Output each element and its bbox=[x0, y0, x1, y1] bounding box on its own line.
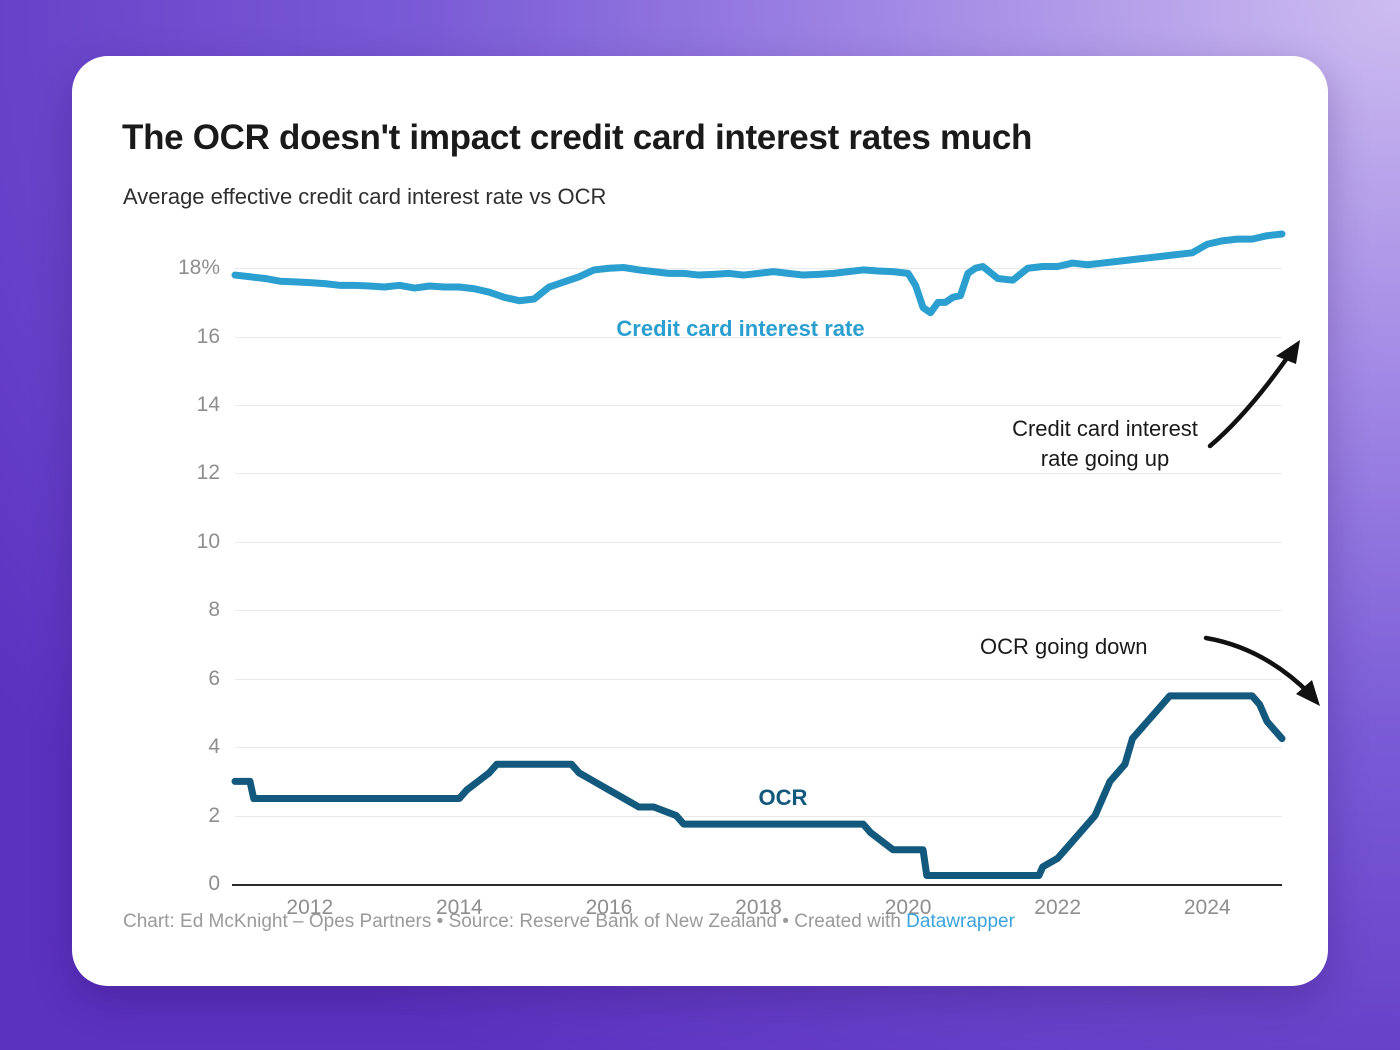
chart-title: The OCR doesn't impact credit card inter… bbox=[122, 118, 1032, 158]
y-axis-tick-label: 12 bbox=[122, 461, 220, 485]
y-axis-tick-label: 0 bbox=[122, 872, 220, 896]
x-axis-tick-label: 2022 bbox=[1034, 896, 1081, 920]
y-axis-tick-label: 14 bbox=[122, 393, 220, 417]
up-arrow-icon bbox=[1202, 334, 1312, 454]
annotation-credit-card-going-up: Credit card interest rate going up bbox=[980, 414, 1230, 473]
credit-card-line bbox=[235, 234, 1282, 313]
y-axis-tick-label: 6 bbox=[122, 667, 220, 691]
footer-credit-text: Chart: Ed McKnight – Opes Partners • Sou… bbox=[123, 911, 906, 932]
chart-footer: Chart: Ed McKnight – Opes Partners • Sou… bbox=[123, 911, 1015, 933]
x-axis-tick-label: 2024 bbox=[1184, 896, 1231, 920]
y-axis-tick-label: 8 bbox=[122, 598, 220, 622]
y-axis-tick-label: 4 bbox=[122, 735, 220, 759]
axis-line bbox=[232, 884, 1282, 886]
y-axis-tick-label: 18% bbox=[122, 256, 220, 280]
y-axis-tick-label: 2 bbox=[122, 804, 220, 828]
y-axis-tick-label: 10 bbox=[122, 530, 220, 554]
chart-card: The OCR doesn't impact credit card inter… bbox=[72, 56, 1328, 986]
chart-subtitle: Average effective credit card interest r… bbox=[123, 184, 606, 210]
datawrapper-link[interactable]: Datawrapper bbox=[906, 911, 1015, 932]
annotation-ocr-going-down: OCR going down bbox=[980, 632, 1200, 662]
series-label-credit-card: Credit card interest rate bbox=[616, 316, 864, 342]
plot-area: 18%1614121086420 20122014201620182020202… bbox=[122, 234, 1282, 884]
series-label-ocr: OCR bbox=[759, 785, 808, 811]
down-arrow-icon bbox=[1202, 632, 1328, 722]
y-axis-tick-label: 16 bbox=[122, 325, 220, 349]
